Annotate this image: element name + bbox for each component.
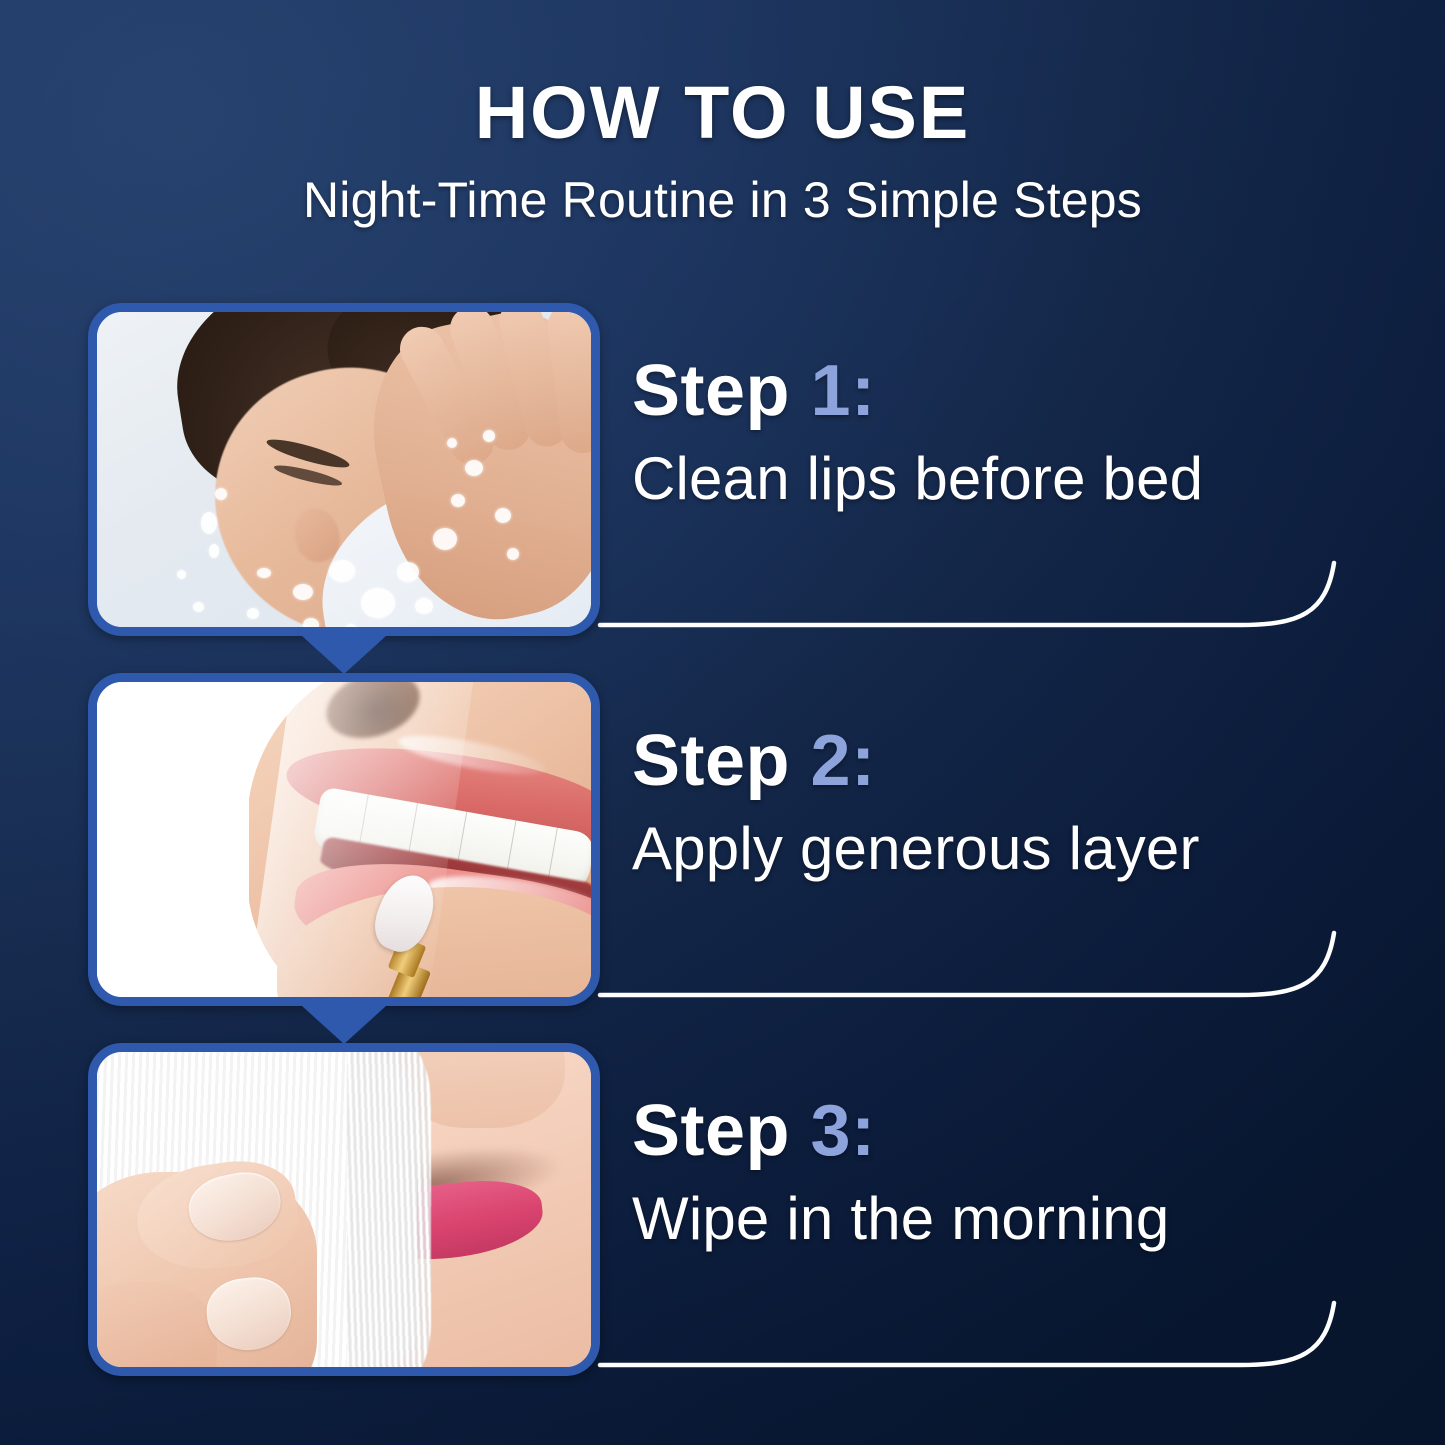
step-1-description: Clean lips before bed (632, 447, 1384, 510)
step-row-1: Step 1: Clean lips before bed (0, 303, 1445, 638)
step-3-label: Step (632, 1091, 790, 1171)
step-2-image-card (88, 673, 600, 1006)
step-2-connector-arrow-icon (302, 1006, 386, 1044)
step-3-photo-wiping-lips (97, 1052, 591, 1367)
step-3-image-card (88, 1043, 600, 1376)
step-row-3: Step 3: Wipe in the morning (0, 1043, 1445, 1378)
step-1-photo-cleansing-face (97, 312, 591, 627)
step-3-number: 3: (811, 1091, 876, 1171)
step-3-text-block: Step 3: Wipe in the morning (632, 1095, 1384, 1250)
step-2-text-block: Step 2: Apply generous layer (632, 725, 1384, 880)
step-1-heading: Step 1: (632, 355, 1384, 427)
step-3-heading: Step 3: (632, 1095, 1384, 1167)
step-2-label: Step (632, 721, 790, 801)
step-2-heading: Step 2: (632, 725, 1384, 797)
step-3-description: Wipe in the morning (632, 1187, 1384, 1250)
step-1-label: Step (632, 351, 790, 431)
step-1-number: 1: (811, 351, 876, 431)
step-1-image-card (88, 303, 600, 636)
step-2-photo-applying-product (97, 682, 591, 997)
step-row-2: Step 2: Apply generous layer (0, 673, 1445, 1008)
step-1-connector-arrow-icon (302, 636, 386, 674)
step-2-description: Apply generous layer (632, 817, 1384, 880)
step-2-number: 2: (811, 721, 876, 801)
step-1-text-block: Step 1: Clean lips before bed (632, 355, 1384, 510)
header-block: HOW TO USE Night-Time Routine in 3 Simpl… (0, 76, 1445, 227)
page-title: HOW TO USE (0, 76, 1445, 150)
infographic-poster: HOW TO USE Night-Time Routine in 3 Simpl… (0, 0, 1445, 1445)
page-subtitle: Night-Time Routine in 3 Simple Steps (0, 174, 1445, 227)
